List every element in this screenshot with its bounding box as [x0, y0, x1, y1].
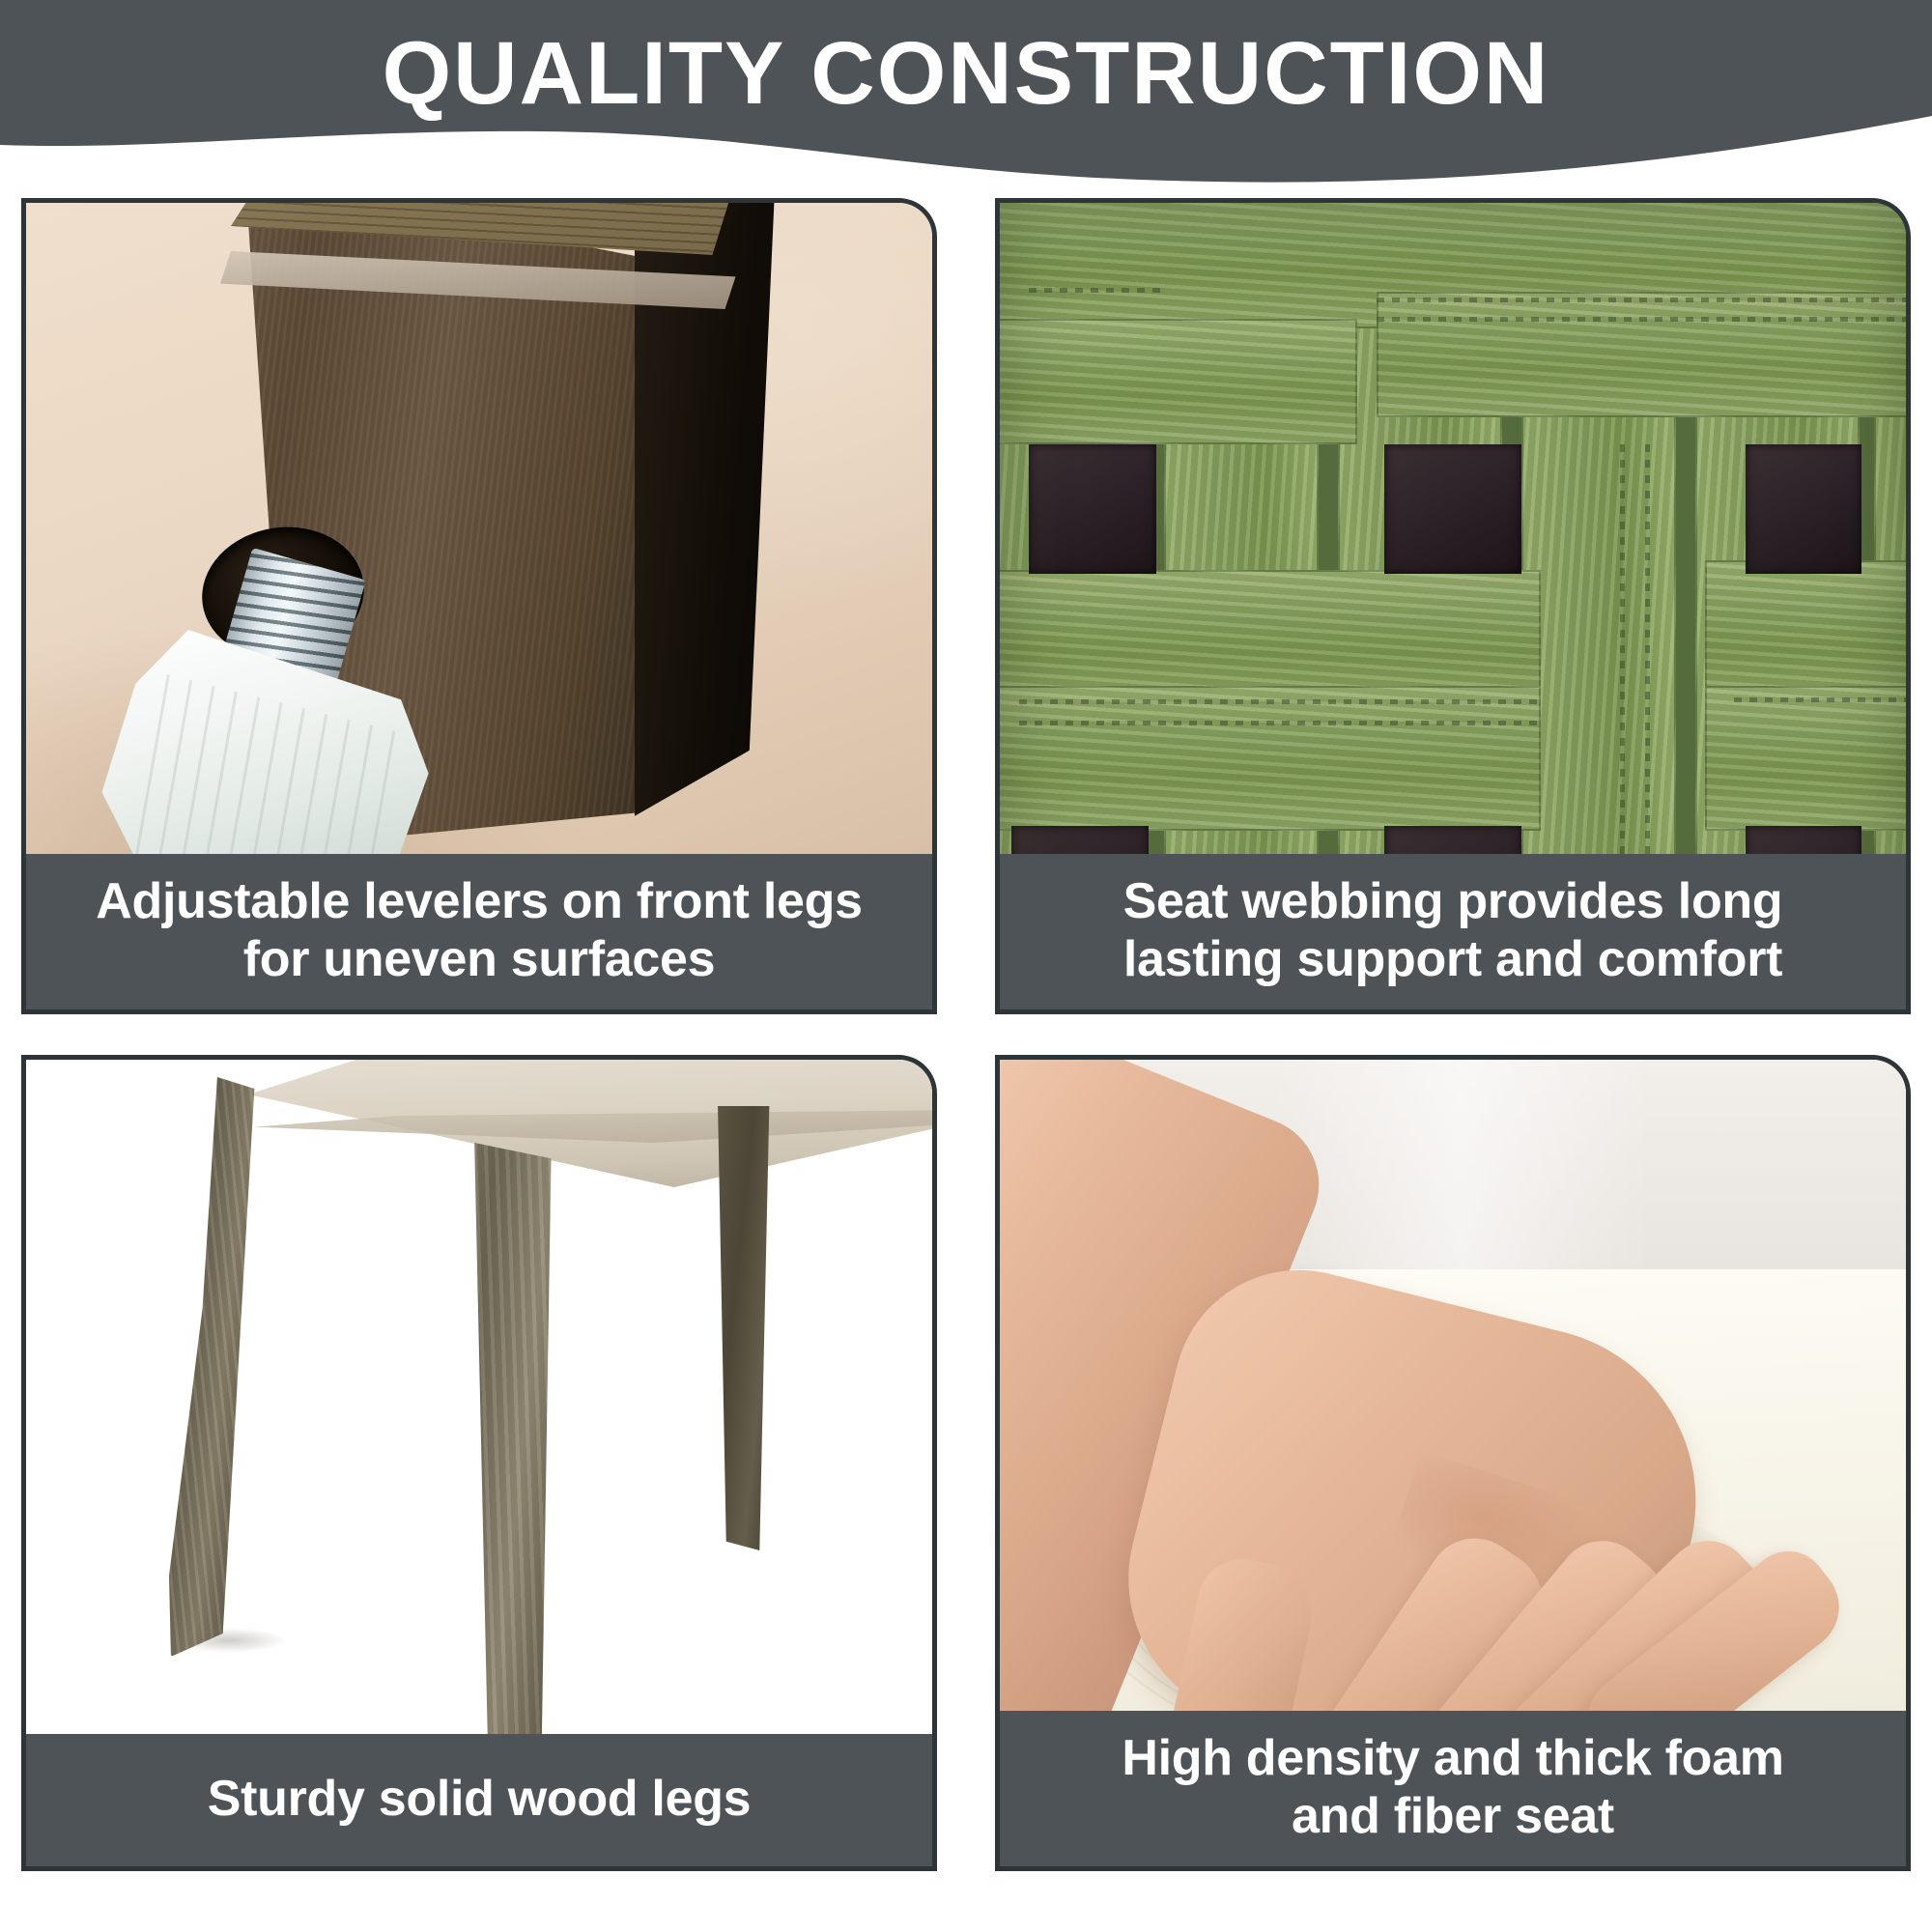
caption-line-2: lasting support and comfort: [1025, 931, 1881, 988]
caption-line-1: Sturdy solid wood legs: [51, 1771, 907, 1828]
wood-leg-rear-left: [169, 1077, 262, 1657]
header-banner: QUALITY CONSTRUCTION: [0, 0, 1932, 184]
feature-card-foam-fiber-seat[interactable]: High density and thick foam and fiber se…: [995, 1055, 1911, 1871]
caption-line-1: High density and thick foam: [1025, 1730, 1881, 1787]
feature-card-adjustable-levelers[interactable]: Adjustable levelers on front legs for un…: [21, 198, 937, 1014]
feature-caption: Sturdy solid wood legs: [26, 1734, 932, 1866]
feature-caption: High density and thick foam and fiber se…: [1000, 1711, 1906, 1866]
feature-caption: Adjustable levelers on front legs for un…: [26, 854, 932, 1009]
feature-card-seat-webbing[interactable]: Seat webbing provides long lasting suppo…: [995, 198, 1911, 1014]
quality-construction-infographic: QUALITY CONSTRUCTION Adjustable levelers…: [0, 0, 1932, 1932]
leg-shadow: [171, 1628, 287, 1653]
caption-line-2: for uneven surfaces: [51, 931, 907, 988]
caption-line-2: and fiber seat: [1025, 1788, 1881, 1845]
feature-grid: Adjustable levelers on front legs for un…: [21, 198, 1911, 1927]
feature-card-solid-wood-legs[interactable]: Sturdy solid wood legs: [21, 1055, 937, 1871]
caption-line-1: Seat webbing provides long: [1025, 873, 1881, 930]
page-title: QUALITY CONSTRUCTION: [0, 27, 1932, 121]
caption-line-1: Adjustable levelers on front legs: [51, 873, 907, 930]
feature-caption: Seat webbing provides long lasting suppo…: [1000, 854, 1906, 1009]
